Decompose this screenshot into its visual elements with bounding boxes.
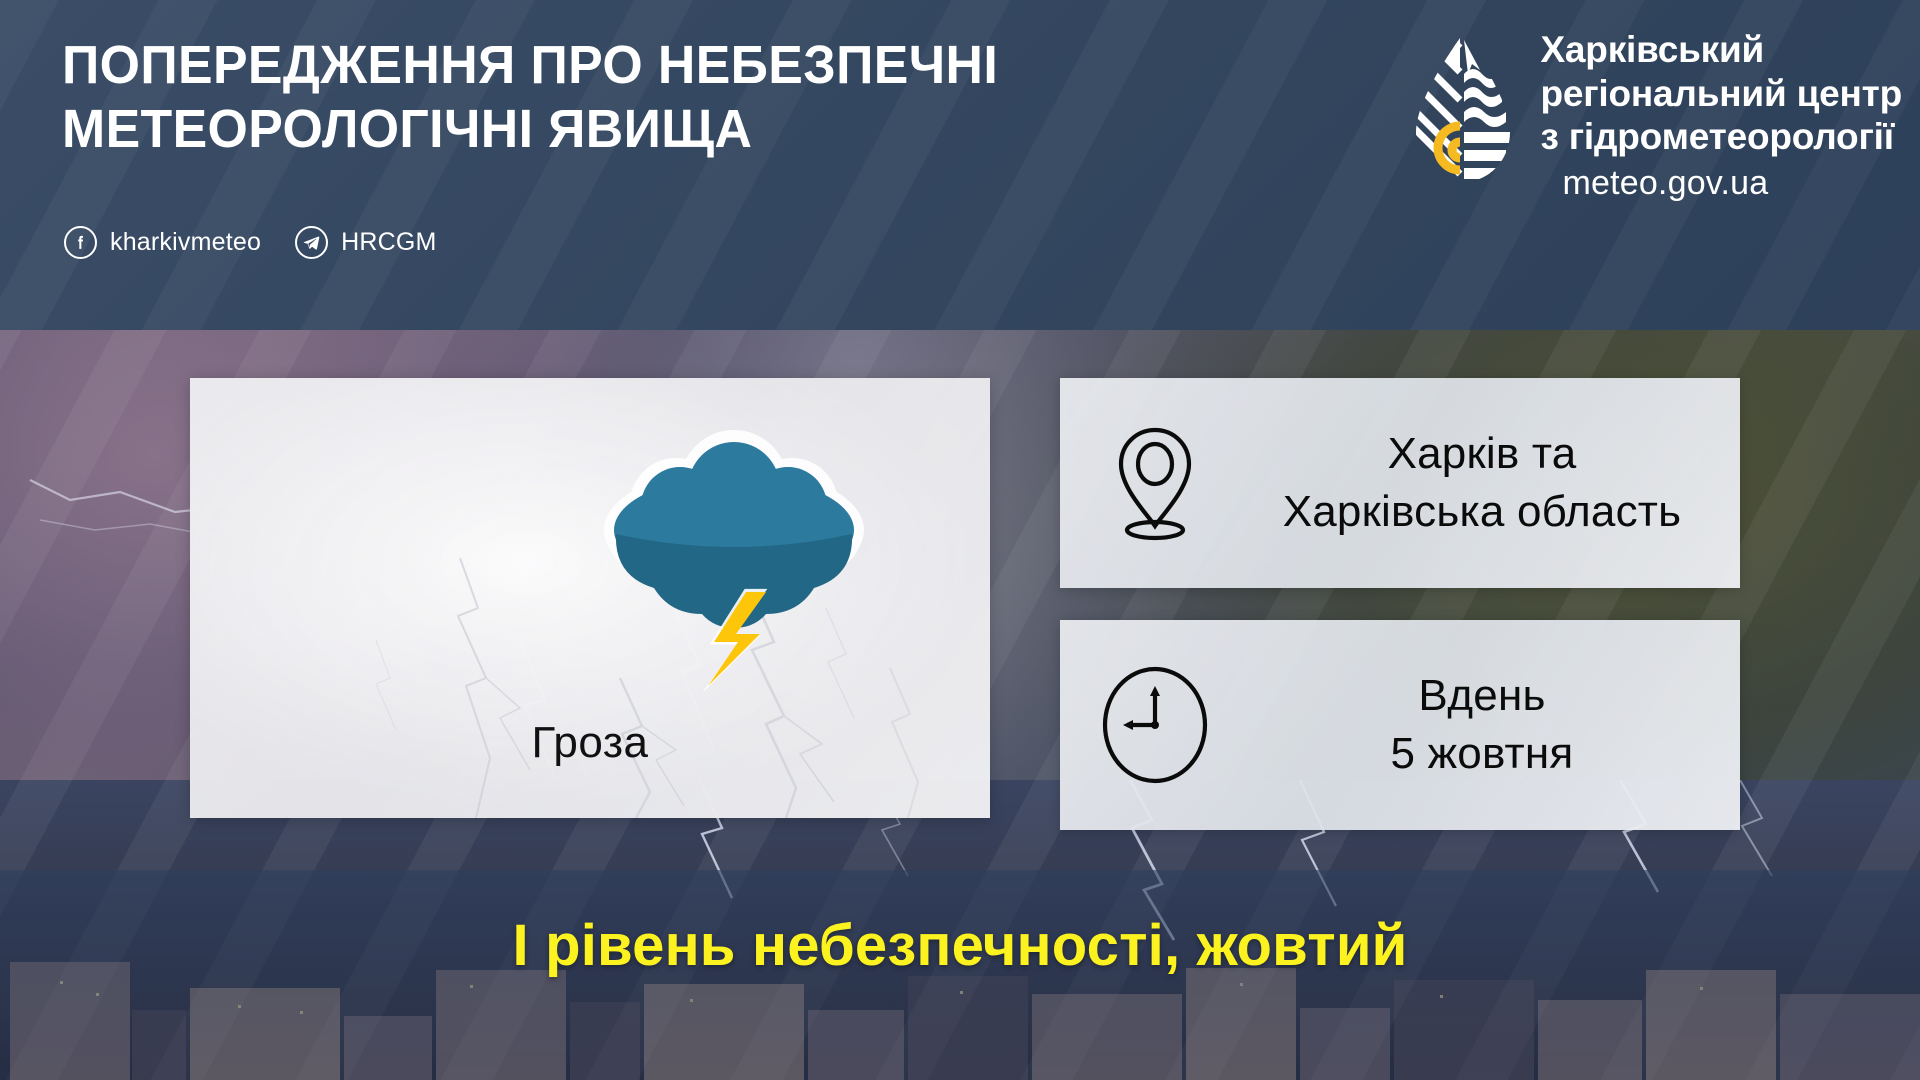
poster-header: ПОПЕРЕДЖЕННЯ ПРО НЕБЕЗПЕЧНІ МЕТЕОРОЛОГІЧ… bbox=[0, 0, 1920, 330]
time-card: Вдень 5 жовтня bbox=[1060, 620, 1740, 830]
website-url[interactable]: meteo.gov.ua bbox=[1540, 162, 1902, 205]
social-links: kharkivmeteo HRCGM bbox=[64, 226, 437, 259]
water-droplet-logo-icon bbox=[1404, 30, 1522, 190]
title-line-2: МЕТЕОРОЛОГІЧНІ ЯВИЩА bbox=[62, 98, 1195, 162]
telegram-icon bbox=[295, 226, 328, 259]
logo-line-3: з гідрометеорології bbox=[1540, 115, 1902, 159]
time-line-2: 5 жовтня bbox=[1250, 725, 1714, 783]
logo-line-2: регіональний центр bbox=[1540, 72, 1902, 116]
poster-main: Гроза Харків та Харківська область bbox=[0, 330, 1920, 870]
time-line-1: Вдень bbox=[1250, 667, 1714, 725]
facebook-handle: kharkivmeteo bbox=[110, 228, 261, 257]
danger-level-text: І рівень небезпечності, жовтий bbox=[0, 912, 1920, 979]
phenomenon-card: Гроза bbox=[190, 378, 990, 818]
region-line-1: Харків та bbox=[1250, 425, 1714, 483]
region-card: Харків та Харківська область bbox=[1060, 378, 1740, 588]
social-link-facebook[interactable]: kharkivmeteo bbox=[64, 226, 261, 259]
time-text: Вдень 5 жовтня bbox=[1250, 667, 1740, 783]
logo-line-1: Харківський bbox=[1540, 28, 1902, 72]
map-pin-icon bbox=[1060, 424, 1250, 542]
organization-logo: Харківський регіональний центр з гідроме… bbox=[1404, 24, 1902, 204]
page-title: ПОПЕРЕДЖЕННЯ ПРО НЕБЕЗПЕЧНІ МЕТЕОРОЛОГІЧ… bbox=[62, 34, 1242, 161]
region-line-2: Харківська область bbox=[1250, 483, 1714, 541]
phenomenon-label: Гроза bbox=[190, 718, 990, 768]
facebook-icon bbox=[64, 226, 97, 259]
thunderstorm-cloud-lightning-icon bbox=[584, 422, 884, 692]
weather-warning-poster: ПОПЕРЕДЖЕННЯ ПРО НЕБЕЗПЕЧНІ МЕТЕОРОЛОГІЧ… bbox=[0, 0, 1920, 1080]
clock-icon bbox=[1060, 662, 1250, 788]
telegram-handle: HRCGM bbox=[341, 228, 436, 257]
title-line-1: ПОПЕРЕДЖЕННЯ ПРО НЕБЕЗПЕЧНІ bbox=[62, 34, 1195, 98]
organization-name: Харківський регіональний центр з гідроме… bbox=[1540, 24, 1902, 204]
social-link-telegram[interactable]: HRCGM bbox=[295, 226, 436, 259]
region-text: Харків та Харківська область bbox=[1250, 425, 1740, 541]
danger-level-band: І рівень небезпечності, жовтий bbox=[0, 870, 1920, 1080]
